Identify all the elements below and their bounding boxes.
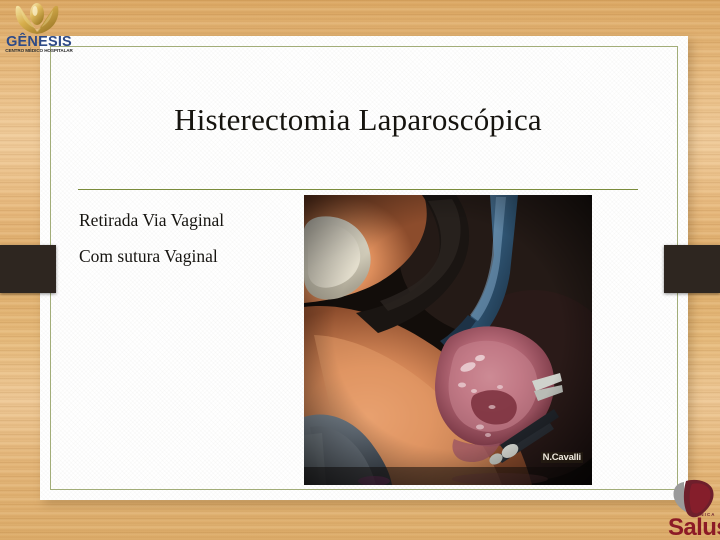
body-line: Com sutura Vaginal: [79, 248, 294, 266]
surgical-photo: N.Cavalli: [304, 195, 592, 485]
genesis-logo: GÊNESIS CENTRO MÉDICO HOSPITALAR: [2, 2, 76, 58]
body-text-block: Retirada Via Vaginal Com sutura Vaginal: [79, 212, 294, 283]
surgical-photo-graphic: [304, 195, 592, 485]
genesis-logo-subtitle: CENTRO MÉDICO HOSPITALAR: [2, 49, 76, 54]
genesis-chalice-icon: [2, 2, 76, 36]
title-divider: [78, 189, 638, 190]
right-dark-tab: [664, 245, 720, 293]
left-dark-tab: [0, 245, 56, 293]
body-line: Retirada Via Vaginal: [79, 212, 294, 230]
page-title: Histerectomia Laparoscópica: [78, 102, 638, 138]
salus-logo: CLÍNICA Salus: [668, 478, 720, 540]
presentation-slide: Histerectomia Laparoscópica Retirada Via…: [0, 0, 720, 540]
photo-watermark: N.Cavalli: [541, 452, 583, 463]
salus-logo-name: Salus: [668, 516, 720, 540]
